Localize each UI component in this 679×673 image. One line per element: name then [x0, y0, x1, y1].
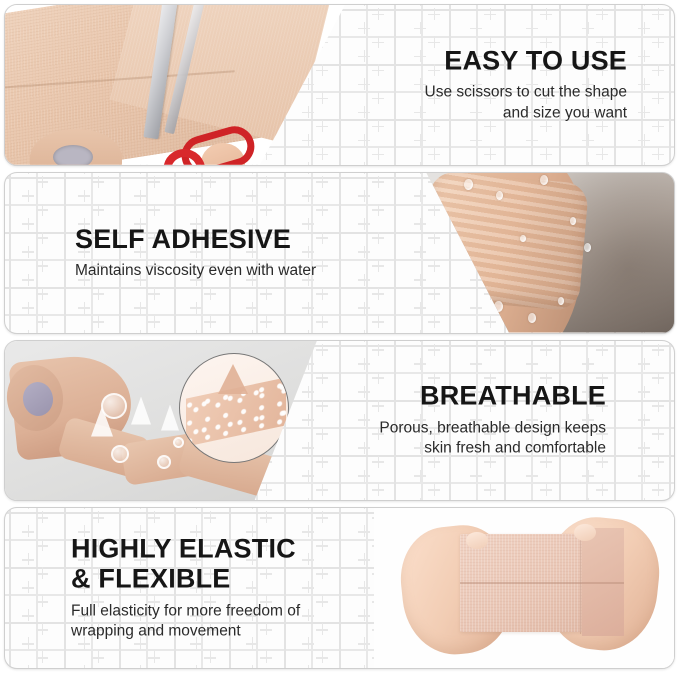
plus-icon	[87, 283, 115, 311]
plus-icon	[143, 507, 171, 534]
plus-icon	[143, 199, 171, 227]
plus-icon	[31, 646, 59, 669]
plus-icon	[255, 199, 283, 227]
plus-icon	[507, 4, 535, 31]
panel-copy-self-adhesive: SELF ADHESIVE Maintains viscosity even w…	[75, 224, 375, 282]
plus-icon	[255, 172, 283, 199]
plus-icon	[311, 646, 339, 669]
plus-icon	[255, 646, 283, 669]
plus-icon	[115, 172, 143, 199]
plus-icon	[283, 311, 311, 334]
plus-icon	[171, 311, 199, 334]
plus-icon	[115, 311, 143, 334]
plus-icon	[647, 143, 675, 166]
plus-icon	[395, 340, 423, 367]
magnifier-inset	[179, 353, 289, 463]
plus-icon	[311, 199, 339, 227]
plus-icon	[4, 255, 31, 283]
plus-icon	[311, 311, 339, 334]
plus-icon	[647, 367, 675, 395]
plus-icon	[4, 590, 31, 618]
plus-icon	[171, 283, 199, 311]
band-crease-vertical	[580, 530, 581, 634]
plus-icon	[647, 479, 675, 502]
plus-icon	[395, 4, 423, 31]
plus-icon	[171, 646, 199, 669]
plus-icon	[227, 507, 255, 534]
plus-icon	[647, 395, 675, 423]
plus-icon	[423, 340, 451, 367]
plus-icon	[619, 479, 647, 502]
feature-panel-breathable: BREATHABLE Porous, breathable design kee…	[4, 340, 675, 502]
plus-icon	[619, 423, 647, 451]
plus-icon	[115, 507, 143, 534]
water-droplet	[540, 175, 548, 185]
plus-icon	[199, 172, 227, 199]
wrapped-bandage	[421, 173, 590, 312]
plus-icon	[255, 507, 283, 534]
plus-icon	[143, 172, 171, 199]
plus-icon	[367, 143, 395, 166]
plus-icon	[339, 646, 367, 669]
plus-icon	[171, 172, 199, 199]
plus-icon	[4, 172, 31, 199]
plus-icon	[59, 311, 87, 334]
plus-icon	[563, 4, 591, 31]
plus-icon	[619, 4, 647, 31]
plus-icon	[59, 646, 87, 669]
plus-icon	[59, 283, 87, 311]
plus-icon	[143, 283, 171, 311]
plus-icon	[647, 340, 675, 367]
panel-title: BREATHABLE	[326, 381, 606, 411]
hands-stretching-band-photo	[374, 508, 674, 668]
plus-icon	[4, 199, 31, 227]
plus-icon	[87, 199, 115, 227]
plus-icon	[647, 115, 675, 143]
water-droplet	[520, 235, 526, 242]
plus-icon	[227, 199, 255, 227]
plus-icon	[619, 367, 647, 395]
plus-icon	[311, 172, 339, 199]
plus-icon	[367, 4, 395, 31]
airflow-arrow-icon	[218, 364, 248, 394]
panel-title: SELF ADHESIVE	[75, 224, 375, 254]
plus-icon	[143, 646, 171, 669]
plus-icon	[619, 451, 647, 479]
plus-icon	[59, 199, 87, 227]
wet-bandaged-limb-photo	[344, 173, 674, 333]
water-droplet	[558, 297, 564, 305]
plus-icon	[535, 4, 563, 31]
plus-icon	[4, 618, 31, 646]
vapor-arrow-icon	[161, 405, 179, 431]
band-crease-horizontal	[460, 582, 624, 583]
air-bubble-icon	[157, 455, 171, 469]
panel-body: Full elasticity for more freedom of wrap…	[71, 601, 371, 643]
plus-icon	[507, 479, 535, 502]
plus-icon	[619, 340, 647, 367]
plus-icon	[395, 143, 423, 166]
feature-panel-self-adhesive: SELF ADHESIVE Maintains viscosity even w…	[4, 172, 675, 334]
plus-icon	[87, 172, 115, 199]
plus-icon	[227, 646, 255, 669]
plus-icon	[4, 283, 31, 311]
feature-infographic: EASY TO USE Use scissors to cut the shap…	[0, 0, 679, 673]
plus-icon	[59, 507, 87, 534]
plus-icon	[451, 4, 479, 31]
plus-icon	[479, 4, 507, 31]
panel-body: Porous, breathable design keeps skin fre…	[326, 418, 606, 460]
plus-icon	[115, 283, 143, 311]
plus-icon	[31, 311, 59, 334]
plus-icon	[283, 283, 311, 311]
plus-icon	[535, 143, 563, 166]
plus-icon	[339, 479, 367, 502]
plus-icon	[591, 479, 619, 502]
plus-icon	[115, 199, 143, 227]
vapor-arrow-icon	[131, 397, 151, 425]
plus-icon	[311, 507, 339, 534]
plus-icon	[31, 562, 59, 590]
plus-icon	[367, 340, 395, 367]
plus-icon	[339, 340, 367, 367]
plus-icon	[227, 283, 255, 311]
scissors-cutting-tape-illustration	[5, 5, 345, 165]
water-droplet	[464, 179, 473, 190]
feature-panel-easy-to-use: EASY TO USE Use scissors to cut the shap…	[4, 4, 675, 166]
plus-icon	[283, 507, 311, 534]
plus-icon	[171, 507, 199, 534]
panel-title: HIGHLY ELASTIC & FLEXIBLE	[71, 534, 371, 594]
plus-icon	[647, 451, 675, 479]
plus-icon	[423, 4, 451, 31]
plus-icon	[619, 143, 647, 166]
plus-icon	[451, 340, 479, 367]
plus-icon	[227, 311, 255, 334]
plus-icon	[4, 311, 31, 334]
panel-copy-highly-elastic: HIGHLY ELASTIC & FLEXIBLE Full elasticit…	[71, 534, 371, 643]
plus-icon	[619, 395, 647, 423]
plus-icon	[31, 227, 59, 255]
plus-icon	[563, 143, 591, 166]
air-bubble-icon	[111, 445, 129, 463]
water-droplet	[494, 301, 503, 312]
plus-icon	[4, 227, 31, 255]
plus-icon	[87, 646, 115, 669]
plus-icon	[4, 507, 31, 534]
plus-icon	[31, 618, 59, 646]
plus-icon	[451, 479, 479, 502]
plus-icon	[31, 172, 59, 199]
plus-icon	[535, 340, 563, 367]
panel-copy-breathable: BREATHABLE Porous, breathable design kee…	[326, 381, 606, 460]
plus-icon	[507, 143, 535, 166]
plus-icon	[4, 646, 31, 669]
plus-icon	[31, 199, 59, 227]
feature-panel-highly-elastic: HIGHLY ELASTIC & FLEXIBLE Full elasticit…	[4, 507, 675, 669]
plus-icon	[283, 646, 311, 669]
plus-icon	[199, 199, 227, 227]
plus-icon	[87, 311, 115, 334]
plus-icon	[647, 423, 675, 451]
plus-icon	[143, 311, 171, 334]
panel-copy-easy-to-use: EASY TO USE Use scissors to cut the shap…	[357, 45, 627, 124]
plus-icon	[591, 340, 619, 367]
plus-icon	[255, 283, 283, 311]
plus-icon	[563, 340, 591, 367]
plus-icon	[31, 255, 59, 283]
plus-icon	[31, 507, 59, 534]
plus-icon	[339, 507, 367, 534]
plus-icon	[395, 479, 423, 502]
plus-icon	[311, 283, 339, 311]
plus-icon	[479, 143, 507, 166]
plus-icon	[647, 31, 675, 59]
plus-icon	[367, 479, 395, 502]
plus-icon	[115, 646, 143, 669]
plus-icon	[647, 87, 675, 115]
panel-title: EASY TO USE	[357, 45, 627, 75]
panel-image-breathable	[5, 341, 317, 501]
panel-image-easy-to-use	[5, 5, 345, 165]
plus-icon	[479, 479, 507, 502]
breathable-bandage-illustration	[5, 341, 317, 501]
plus-icon	[4, 562, 31, 590]
water-droplet	[528, 313, 536, 323]
plus-icon	[199, 283, 227, 311]
plus-icon	[451, 143, 479, 166]
plus-icon	[59, 172, 87, 199]
plus-icon	[535, 479, 563, 502]
plus-icon	[199, 507, 227, 534]
water-droplet	[496, 191, 503, 200]
plus-icon	[563, 479, 591, 502]
water-droplet	[570, 217, 576, 225]
plus-icon	[507, 340, 535, 367]
plus-icon	[31, 283, 59, 311]
plus-icon	[31, 534, 59, 562]
plus-icon	[4, 534, 31, 562]
plus-icon	[199, 311, 227, 334]
plus-icon	[255, 311, 283, 334]
plus-icon	[591, 4, 619, 31]
water-droplet	[584, 243, 591, 252]
plus-icon	[647, 59, 675, 87]
air-bubble-icon	[173, 437, 184, 448]
tape-roll-core	[53, 145, 93, 165]
plus-icon	[283, 199, 311, 227]
panel-image-self-adhesive	[344, 173, 674, 333]
plus-icon	[171, 199, 199, 227]
plus-icon	[199, 646, 227, 669]
plus-icon	[647, 4, 675, 31]
panel-body: Maintains viscosity even with water	[75, 261, 375, 282]
plus-icon	[479, 340, 507, 367]
plus-icon	[283, 172, 311, 199]
plus-icon	[423, 479, 451, 502]
plus-icon	[423, 143, 451, 166]
panel-image-highly-elastic	[374, 508, 674, 668]
plus-icon	[227, 172, 255, 199]
plus-icon	[591, 143, 619, 166]
panel-body: Use scissors to cut the shape and size y…	[357, 83, 627, 125]
water-droplet	[456, 273, 463, 282]
plus-icon	[87, 507, 115, 534]
water-droplet	[474, 323, 480, 330]
plus-icon	[31, 590, 59, 618]
